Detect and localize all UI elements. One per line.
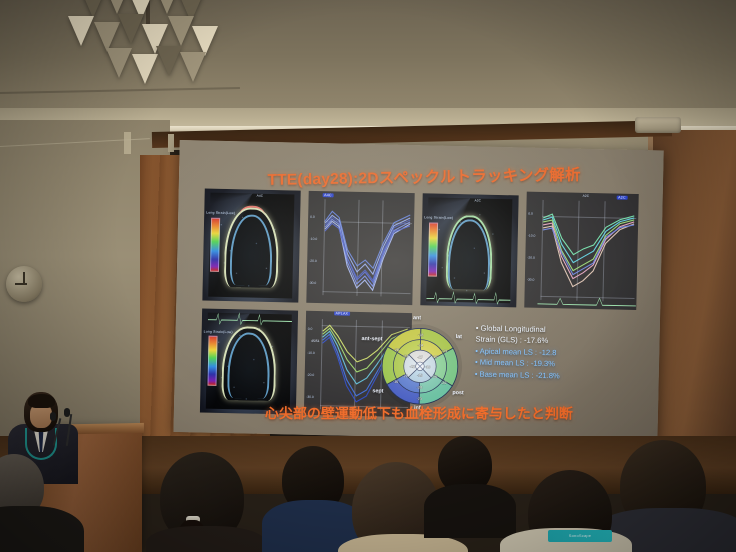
audience-lanyard: SonoScape (548, 530, 612, 542)
projector-glow (173, 140, 663, 442)
wall-clock (6, 266, 42, 302)
ceiling-vent-icon (635, 117, 681, 133)
audience-shoulders (424, 484, 516, 538)
audience-shoulders (146, 526, 266, 552)
ceiling-mount-post (124, 132, 131, 154)
microphone-head-2 (64, 408, 70, 417)
lanyard-text: SonoScape (548, 530, 612, 542)
microphone-head (50, 412, 56, 421)
ceiling-mount-post-2 (168, 134, 174, 152)
conference-photo: TTE(day28):2Dスペックルトラッキング解析 Long Strain(L… (0, 0, 736, 552)
chandelier (60, 0, 240, 112)
projection-screen: TTE(day28):2Dスペックルトラッキング解析 Long Strain(L… (173, 132, 665, 443)
presenter-hair (28, 394, 55, 408)
